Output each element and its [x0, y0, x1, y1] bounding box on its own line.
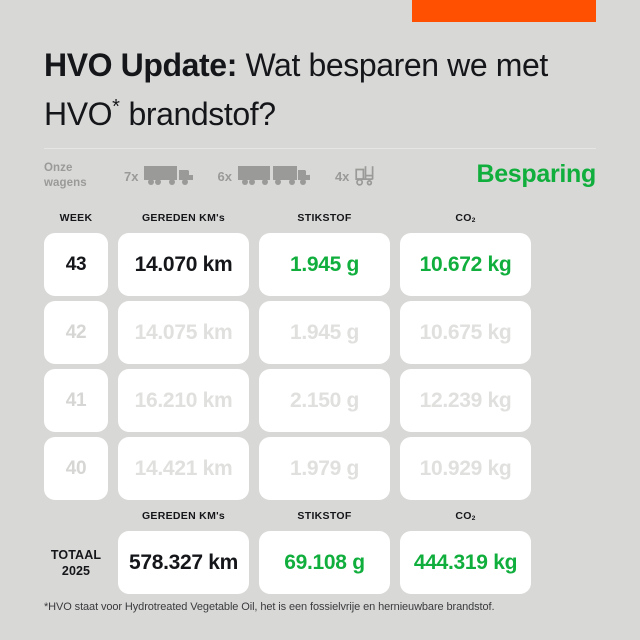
- besparing-heading: Besparing: [476, 160, 596, 189]
- cell-km: 16.210 km: [118, 369, 249, 432]
- header-co2-text: CO: [455, 212, 471, 224]
- cell-week: 42: [44, 301, 108, 364]
- table-row[interactable]: 43 14.070 km 1.945 g 10.672 kg: [44, 233, 596, 296]
- cell-gap: [108, 437, 118, 500]
- header-gap: [108, 212, 118, 224]
- header-gap: [249, 212, 259, 224]
- header-km: GEREDEN KM's: [118, 212, 249, 224]
- fleet-label-line1: Onze: [44, 161, 106, 176]
- cell-gap: [108, 301, 118, 364]
- totals-header-spacer: [44, 510, 108, 522]
- table-row[interactable]: 41 16.210 km 2.150 g 12.239 kg: [44, 369, 596, 432]
- fleet-count-truck-trailer: 6x: [217, 169, 231, 184]
- cell-week: 40: [44, 437, 108, 500]
- fleet-strip: Onze wagens 7x 6x: [44, 155, 380, 197]
- header-gap: [390, 510, 400, 522]
- infographic-page: HVO Update: Wat besparen we met HVO* bra…: [0, 0, 640, 640]
- cell-gap: [108, 233, 118, 296]
- table-row[interactable]: 42 14.075 km 1.945 g 10.675 kg: [44, 301, 596, 364]
- header-gap: [390, 212, 400, 224]
- cell-co2: 10.929 kg: [400, 437, 531, 500]
- table-body: 43 14.070 km 1.945 g 10.672 kg 42 14.075…: [44, 233, 596, 505]
- cell-co2: 10.675 kg: [400, 301, 531, 364]
- fleet-unit-truck: 7x: [124, 164, 199, 188]
- cell-stikstof: 1.945 g: [259, 301, 390, 364]
- totals-cell-stikstof: 69.108 g: [259, 531, 390, 594]
- header-stikstof: STIKSTOF: [259, 212, 390, 224]
- cell-gap: [390, 233, 400, 296]
- fleet-unit-forklift: 4x: [335, 163, 380, 189]
- section-divider: [44, 148, 596, 149]
- totals-row: TOTAAL 2025 578.327 km 69.108 g 444.319 …: [44, 531, 596, 594]
- cell-km: 14.070 km: [118, 233, 249, 296]
- fleet-label: Onze wagens: [44, 161, 106, 191]
- totals-column-headers: GEREDEN KM's STIKSTOF CO2: [44, 510, 596, 522]
- cell-km: 14.075 km: [118, 301, 249, 364]
- cell-week: 41: [44, 369, 108, 432]
- page-title: HVO Update: Wat besparen we met HVO* bra…: [44, 44, 612, 135]
- cell-gap: [390, 437, 400, 500]
- totals-header-co2-text: CO: [455, 510, 471, 522]
- fleet-label-line2: wagens: [44, 176, 106, 191]
- cell-gap: [249, 531, 259, 594]
- header-gap: [108, 510, 118, 522]
- header-gap: [249, 510, 259, 522]
- cell-stikstof: 2.150 g: [259, 369, 390, 432]
- cell-gap: [390, 301, 400, 364]
- orange-accent-bar: [412, 0, 596, 22]
- cell-gap: [108, 369, 118, 432]
- cell-co2: 12.239 kg: [400, 369, 531, 432]
- cell-week: 43: [44, 233, 108, 296]
- totals-header-co2-subscript: 2: [472, 515, 476, 522]
- table-column-headers: WEEK GEREDEN KM's STIKSTOF CO2: [44, 212, 596, 224]
- header-week: WEEK: [44, 212, 108, 224]
- table-row[interactable]: 40 14.421 km 1.979 g 10.929 kg: [44, 437, 596, 500]
- cell-gap: [249, 233, 259, 296]
- title-asterisk: *: [112, 96, 120, 118]
- truck-trailer-icon: [237, 164, 317, 188]
- fleet-count-truck: 7x: [124, 169, 138, 184]
- header-co2-subscript: 2: [472, 217, 476, 224]
- title-tail: brandstof?: [120, 96, 276, 132]
- totals-label-line1: TOTAAL: [51, 547, 101, 563]
- cell-gap: [390, 369, 400, 432]
- cell-km: 14.421 km: [118, 437, 249, 500]
- cell-gap: [108, 531, 118, 594]
- totals-header-co2: CO2: [400, 510, 531, 522]
- totals-header-stikstof: STIKSTOF: [259, 510, 390, 522]
- cell-gap: [249, 369, 259, 432]
- cell-gap: [249, 437, 259, 500]
- cell-gap: [249, 301, 259, 364]
- header-co2: CO2: [400, 212, 531, 224]
- cell-gap: [390, 531, 400, 594]
- fleet-count-forklift: 4x: [335, 169, 349, 184]
- cell-stikstof: 1.979 g: [259, 437, 390, 500]
- footnote: *HVO staat voor Hydrotreated Vegetable O…: [44, 601, 604, 613]
- truck-icon: [143, 164, 199, 188]
- cell-stikstof: 1.945 g: [259, 233, 390, 296]
- forklift-icon: [354, 163, 380, 189]
- totals-cell-co2: 444.319 kg: [400, 531, 531, 594]
- totals-label: TOTAAL 2025: [44, 531, 108, 594]
- cell-co2: 10.672 kg: [400, 233, 531, 296]
- totals-cell-km: 578.327 km: [118, 531, 249, 594]
- fleet-unit-truck-trailer: 6x: [217, 164, 316, 188]
- title-strong: HVO Update:: [44, 47, 237, 83]
- totals-header-km: GEREDEN KM's: [118, 510, 249, 522]
- totals-label-line2: 2025: [62, 563, 90, 579]
